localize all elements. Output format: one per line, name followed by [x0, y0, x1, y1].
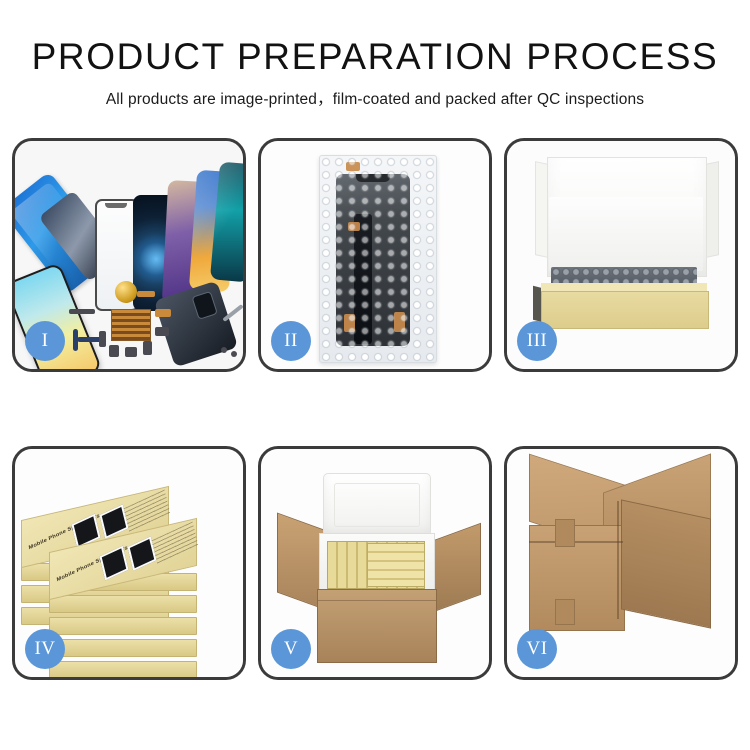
step-badge-5: V [271, 629, 311, 669]
box-print-text-block [152, 522, 199, 565]
process-step-6: VI [504, 446, 738, 680]
small-part [143, 341, 152, 355]
box-window [99, 546, 128, 581]
small-part [125, 347, 137, 357]
small-part [155, 327, 169, 336]
foam-padding [549, 197, 703, 271]
screw [221, 347, 227, 353]
process-step-4: Mobile Phone Spare Parts Mobile Phone Sp… [12, 446, 246, 680]
box-edge [49, 639, 197, 657]
process-step-2: II [258, 138, 492, 372]
carton-seam [617, 501, 619, 619]
process-step-grid: I II [12, 138, 738, 680]
process-step-5: V [258, 446, 492, 680]
process-step-3: III [504, 138, 738, 372]
small-part [137, 291, 155, 297]
flex-cable-strip [354, 214, 372, 344]
step-badge-1: I [25, 321, 65, 361]
carton-tape-upper [555, 519, 575, 547]
carton-seam [529, 541, 623, 543]
tape-piece [348, 222, 360, 231]
box-edge [49, 661, 197, 677]
header: PRODUCT PREPARATION PROCESS All products… [0, 0, 750, 109]
speaker-component [115, 281, 137, 303]
small-part [69, 309, 95, 314]
tape-piece [394, 312, 405, 332]
page-subtitle: All products are image-printed，film-coat… [0, 87, 750, 109]
step-badge-4: IV [25, 629, 65, 669]
carton-face-side [621, 499, 711, 628]
packed-boxes-row [367, 543, 425, 587]
foam-box-lid [323, 473, 431, 537]
screw [231, 351, 237, 357]
tape-piece [346, 162, 360, 171]
box-edge [49, 595, 197, 613]
page-title: PRODUCT PREPARATION PROCESS [0, 38, 750, 77]
tape-piece [344, 314, 355, 332]
small-part [109, 345, 119, 357]
box-edge [49, 617, 197, 635]
small-part [99, 331, 106, 347]
step-badge-3: III [517, 321, 557, 361]
process-step-1: I [12, 138, 246, 372]
bubble-wrap-bag [319, 155, 437, 363]
step-badge-2: II [271, 321, 311, 361]
carton-body [317, 589, 437, 663]
carton-tape-lower [555, 599, 575, 625]
flex-cable [73, 329, 78, 351]
product-preparation-infographic: PRODUCT PREPARATION PROCESS All products… [0, 0, 750, 750]
box-base-yellow [541, 291, 709, 329]
step-badge-6: VI [517, 629, 557, 669]
small-part [155, 309, 171, 317]
chip-grid-component [111, 309, 151, 341]
